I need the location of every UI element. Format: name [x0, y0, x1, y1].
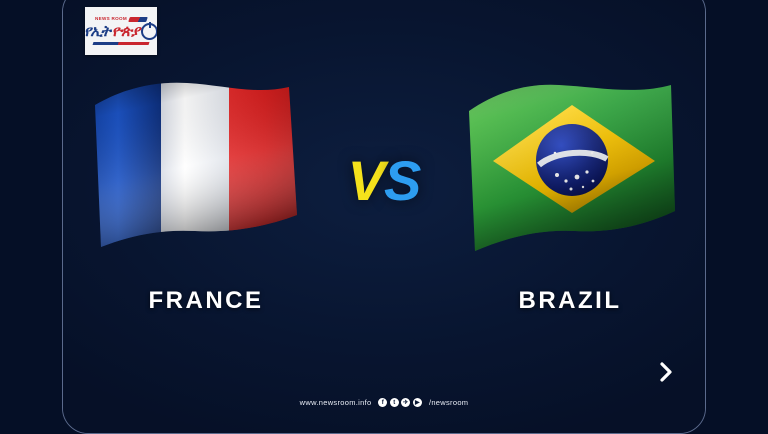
youtube-icon[interactable]: ▶ [413, 398, 422, 407]
newsroom-logo[interactable]: NEWS ROOM የኢት ዮጵያ [85, 7, 157, 55]
twitter-icon[interactable]: t [390, 398, 399, 407]
social-icon-row: f t ✈ ▶ [378, 398, 422, 407]
footer-website[interactable]: www.newsroom.info [300, 398, 372, 407]
team-name-left: FRANCE [91, 287, 321, 315]
chevron-right-glyph [655, 361, 677, 383]
logo-kicker: NEWS ROOM [95, 17, 127, 22]
brazil-flag-graphic [459, 61, 689, 261]
team-name-right: BRAZIL [455, 287, 685, 315]
circle-antenna-mark-icon [141, 23, 157, 40]
telegram-icon[interactable]: ✈ [401, 398, 410, 407]
logo-main-row: የኢት ዮጵያ [85, 23, 157, 40]
facebook-icon[interactable]: f [378, 398, 387, 407]
footer-bar: www.newsroom.info f t ✈ ▶ /newsroom [63, 398, 705, 407]
logo-top-row: NEWS ROOM [95, 17, 147, 22]
match-card: NEWS ROOM የኢት ዮጵያ [62, 0, 706, 434]
versus-label: VS [348, 153, 421, 209]
logo-swoosh-icon [128, 17, 148, 22]
versus-v: V [348, 149, 384, 212]
brazil-flag [459, 61, 689, 261]
france-flag [83, 61, 313, 261]
france-flag-graphic [83, 61, 313, 261]
chevron-right-icon[interactable] [653, 359, 679, 385]
slide-canvas: NEWS ROOM የኢት ዮጵያ [0, 0, 768, 432]
footer-handle[interactable]: /newsroom [429, 398, 468, 407]
logo-word-secondary: ዮጵያ [112, 24, 139, 39]
versus-s: S [384, 149, 420, 212]
logo-word-primary: የኢት [85, 24, 110, 39]
logo-underbar [93, 42, 150, 45]
